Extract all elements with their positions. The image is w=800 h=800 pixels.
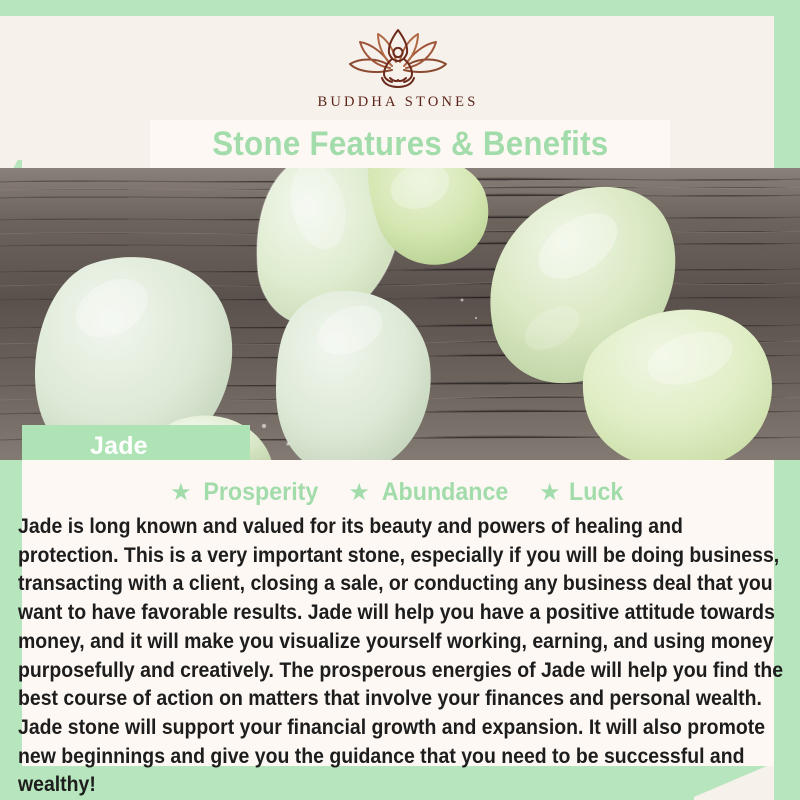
star-icon: ★	[170, 481, 192, 505]
benefit-label: Abundance	[382, 478, 509, 507]
benefit-item-prosperity: ★ Prosperity	[170, 478, 322, 507]
benefit-label: Prosperity	[203, 478, 318, 507]
description-block: Jade is long known and valued for its be…	[18, 512, 784, 799]
star-icon: ★	[539, 481, 561, 505]
page-title: Stone Features & Benefits	[212, 125, 608, 164]
title-banner: Stone Features & Benefits	[150, 120, 670, 168]
benefit-item-abundance: ★ Abundance	[348, 478, 513, 507]
brand-name: BUDDHA STONES	[318, 94, 479, 111]
stone-name-label: Jade	[90, 432, 148, 461]
frame-top-band	[0, 0, 800, 16]
benefit-label: Luck	[570, 478, 624, 507]
benefits-list: ★ Prosperity ★ Abundance ★ Luck	[22, 478, 774, 507]
lotus-meditation-icon	[342, 26, 454, 90]
jade-tumbled-stones-photo	[0, 168, 800, 460]
description-text: Jade is long known and valued for its be…	[18, 512, 784, 799]
benefit-item-luck: ★ Luck	[539, 478, 626, 507]
brand-header: BUDDHA STONES	[22, 16, 774, 120]
stone-benefits-poster: BUDDHA STONES Stone Features & Benefits	[0, 0, 800, 800]
star-icon: ★	[348, 481, 370, 505]
